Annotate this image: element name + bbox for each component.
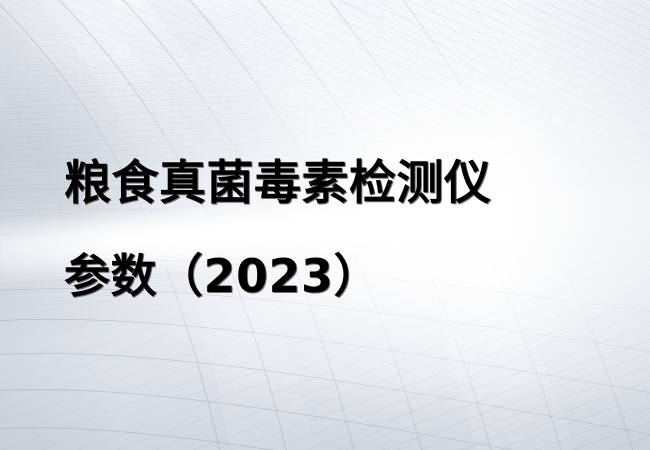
banner-title: 粮食真菌毒素检测仪 参数（2023） xyxy=(64,138,584,322)
banner-title-line-2: 参数（2023） xyxy=(64,230,584,322)
banner-title-line-1: 粮食真菌毒素检测仪 xyxy=(64,138,584,230)
title-banner: 粮食真菌毒素检测仪 参数（2023） xyxy=(0,0,650,450)
